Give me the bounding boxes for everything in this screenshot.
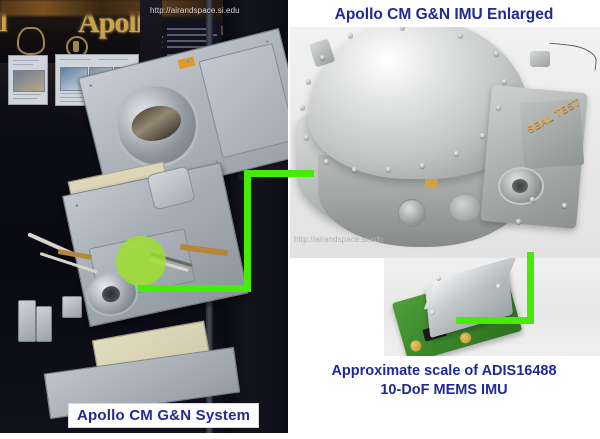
title-imu-enlarged: Apollo CM G&N IMU Enlarged — [288, 0, 600, 30]
mems-imu-photo: ADIS16488 — [384, 258, 600, 356]
optics-ring — [106, 74, 208, 176]
connector-line-2-vertical — [527, 252, 534, 324]
gn-plate-panel — [199, 43, 288, 158]
watermark-left: http://airandspace.si.edu — [150, 6, 240, 15]
caption-mems-scale: Approximate scale of ADIS16488 10-DoF ME… — [294, 362, 594, 400]
imu-wire-lead — [547, 43, 598, 71]
connector-block — [62, 296, 82, 318]
imu-enlarged-photo: SEAL TEST http://airandspace.s — [290, 27, 600, 258]
connector-line-1-arrow — [292, 170, 314, 177]
banner-badge-triangle-icon — [17, 27, 45, 55]
connector-block — [18, 300, 36, 342]
connector-line-1-top — [244, 170, 292, 177]
watermark-imu: http://airandspace.si.edu — [294, 235, 384, 244]
caption-apollo-gn-system: Apollo CM G&N System — [68, 403, 259, 428]
wall-placard — [8, 55, 48, 105]
connector-line-2-horizontal — [456, 317, 534, 324]
connector-block — [36, 306, 52, 342]
banner-word-left: ll — [0, 8, 6, 38]
figure-canvas: ll Apollo Gemini — [0, 0, 600, 439]
imu-optical-port — [498, 167, 544, 205]
right-column: Apollo CM G&N IMU Enlarged SEAL TEST — [288, 0, 600, 439]
caption-mems-line1: Approximate scale of ADIS16488 — [294, 362, 594, 381]
imu-secondary-port — [450, 195, 480, 221]
imu-location-highlight-circle — [116, 236, 166, 286]
caption-mems-line2: 10-DoF MEMS IMU — [294, 381, 594, 400]
imu-yellow-marker — [425, 179, 437, 188]
imu-knob — [398, 199, 426, 227]
connector-line-1-bottom — [138, 285, 248, 292]
connector-line-1-vertical — [244, 170, 251, 292]
